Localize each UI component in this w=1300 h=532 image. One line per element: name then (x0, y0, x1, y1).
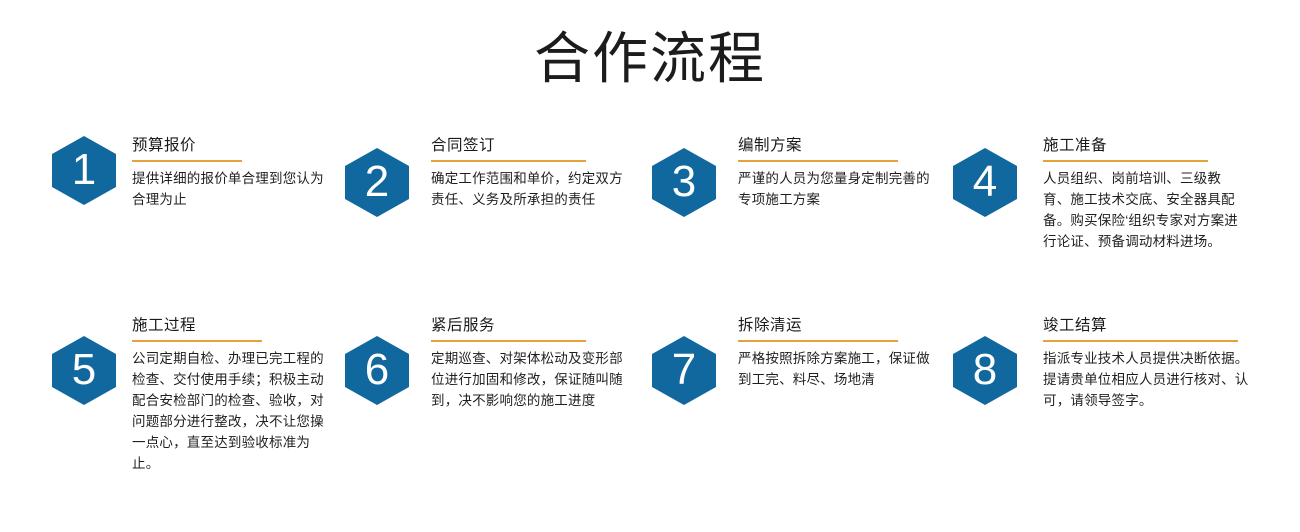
step-body-6: 紧后服务 定期巡查、对架体松动及变形部位进行加固和修改，保证随叫随到，决不影响您… (431, 316, 630, 411)
step-body-3: 编制方案 严谨的人员为您量身定制完善的专项施工方案 (738, 136, 932, 210)
step-item-5[interactable]: 5 施工过程 公司定期自检、办理已完工程的检查、交付使用手续；积极主动配合安检部… (52, 316, 332, 474)
step-number-3: 3 (672, 160, 696, 204)
step-title-2: 合同签订 (431, 136, 625, 156)
step-item-3[interactable]: 3 编制方案 严谨的人员为您量身定制完善的专项施工方案 (652, 136, 932, 217)
hexagon-badge-4: 4 (953, 148, 1017, 217)
step-description-1: 提供详细的报价单合理到您认为合理为止 (132, 168, 332, 210)
step-description-8: 指派专业技术人员提供决断依据。提请贵单位相应人员进行核对、认可，请领导签字。 (1043, 348, 1253, 411)
step-title-8: 竣工结算 (1043, 316, 1253, 336)
step-number-4: 4 (973, 160, 997, 204)
step-title-1: 预算报价 (132, 136, 332, 156)
step-underline-5 (132, 340, 262, 342)
step-number-1: 1 (72, 148, 96, 192)
step-title-7: 拆除清运 (738, 316, 942, 336)
step-description-4: 人员组织、岗前培训、三级教育、施工技术交底、安全器具配备。购买保险‘组织专家对方… (1043, 168, 1238, 252)
page-title: 合作流程 (0, 26, 1300, 92)
hexagon-badge-3: 3 (652, 148, 716, 217)
hexagon-badge-6: 6 (345, 336, 409, 405)
step-number-2: 2 (365, 160, 389, 204)
hexagon-badge-5: 5 (52, 336, 116, 405)
step-number-8: 8 (973, 348, 997, 392)
step-description-7: 严格按照拆除方案施工，保证做到工完、料尽、场地清 (738, 348, 942, 390)
step-body-1: 预算报价 提供详细的报价单合理到您认为合理为止 (132, 136, 332, 210)
step-underline-6 (431, 340, 586, 342)
step-item-6[interactable]: 6 紧后服务 定期巡查、对架体松动及变形部位进行加固和修改，保证随叫随到，决不影… (345, 316, 630, 411)
hexagon-badge-1: 1 (52, 136, 116, 205)
step-body-2: 合同签订 确定工作范围和单价，约定双方责任、义务及所承担的责任 (431, 136, 625, 210)
step-title-5: 施工过程 (132, 316, 332, 336)
step-title-6: 紧后服务 (431, 316, 630, 336)
step-item-8[interactable]: 8 竣工结算 指派专业技术人员提供决断依据。提请贵单位相应人员进行核对、认可，请… (953, 316, 1253, 411)
step-description-5: 公司定期自检、办理已完工程的检查、交付使用手续；积极主动配合安检部门的检查、验收… (132, 348, 332, 474)
step-number-5: 5 (72, 348, 96, 392)
step-item-1[interactable]: 1 预算报价 提供详细的报价单合理到您认为合理为止 (52, 136, 332, 210)
step-underline-3 (738, 160, 898, 162)
step-description-6: 定期巡查、对架体松动及变形部位进行加固和修改，保证随叫随到，决不影响您的施工进度 (431, 348, 630, 411)
step-item-4[interactable]: 4 施工准备 人员组织、岗前培训、三级教育、施工技术交底、安全器具配备。购买保险… (953, 136, 1238, 252)
hexagon-badge-7: 7 (652, 336, 716, 405)
step-number-6: 6 (365, 348, 389, 392)
step-title-4: 施工准备 (1043, 136, 1238, 156)
step-description-3: 严谨的人员为您量身定制完善的专项施工方案 (738, 168, 932, 210)
step-body-4: 施工准备 人员组织、岗前培训、三级教育、施工技术交底、安全器具配备。购买保险‘组… (1043, 136, 1238, 252)
step-number-7: 7 (672, 348, 696, 392)
step-body-8: 竣工结算 指派专业技术人员提供决断依据。提请贵单位相应人员进行核对、认可，请领导… (1043, 316, 1253, 411)
step-item-2[interactable]: 2 合同签订 确定工作范围和单价，约定双方责任、义务及所承担的责任 (345, 136, 625, 217)
step-body-5: 施工过程 公司定期自检、办理已完工程的检查、交付使用手续；积极主动配合安检部门的… (132, 316, 332, 474)
hexagon-badge-8: 8 (953, 336, 1017, 405)
step-title-3: 编制方案 (738, 136, 932, 156)
step-item-7[interactable]: 7 拆除清运 严格按照拆除方案施工，保证做到工完、料尽、场地清 (652, 316, 942, 405)
infographic-page: 合作流程 1 预算报价 提供详细的报价单合理到您认为合理为止 2 合同签订 确定… (0, 0, 1300, 532)
step-underline-7 (738, 340, 898, 342)
step-description-2: 确定工作范围和单价，约定双方责任、义务及所承担的责任 (431, 168, 625, 210)
step-underline-4 (1043, 160, 1208, 162)
step-underline-8 (1043, 340, 1238, 342)
hexagon-badge-2: 2 (345, 148, 409, 217)
step-underline-1 (132, 160, 242, 162)
step-body-7: 拆除清运 严格按照拆除方案施工，保证做到工完、料尽、场地清 (738, 316, 942, 390)
step-underline-2 (431, 160, 586, 162)
